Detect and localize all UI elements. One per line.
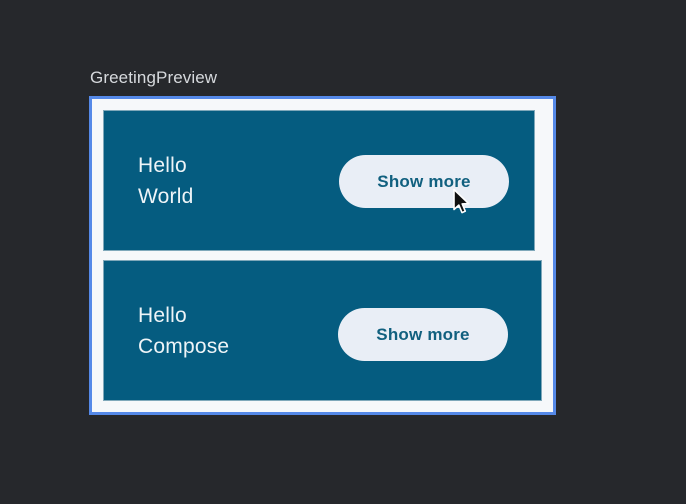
greeting-text: Hello World	[138, 150, 193, 212]
greeting-card[interactable]: Hello World Show more	[103, 110, 535, 251]
greeting-card[interactable]: Hello Compose Show more	[103, 260, 542, 401]
page-title: GreetingPreview	[90, 68, 217, 88]
greeting-text: Hello Compose	[138, 300, 229, 362]
preview-surface: Hello World Show more Hello Compose Show…	[92, 99, 553, 412]
show-more-button[interactable]: Show more	[338, 308, 508, 361]
show-more-button[interactable]: Show more	[339, 155, 509, 208]
preview-frame[interactable]: Hello World Show more Hello Compose Show…	[89, 96, 556, 415]
